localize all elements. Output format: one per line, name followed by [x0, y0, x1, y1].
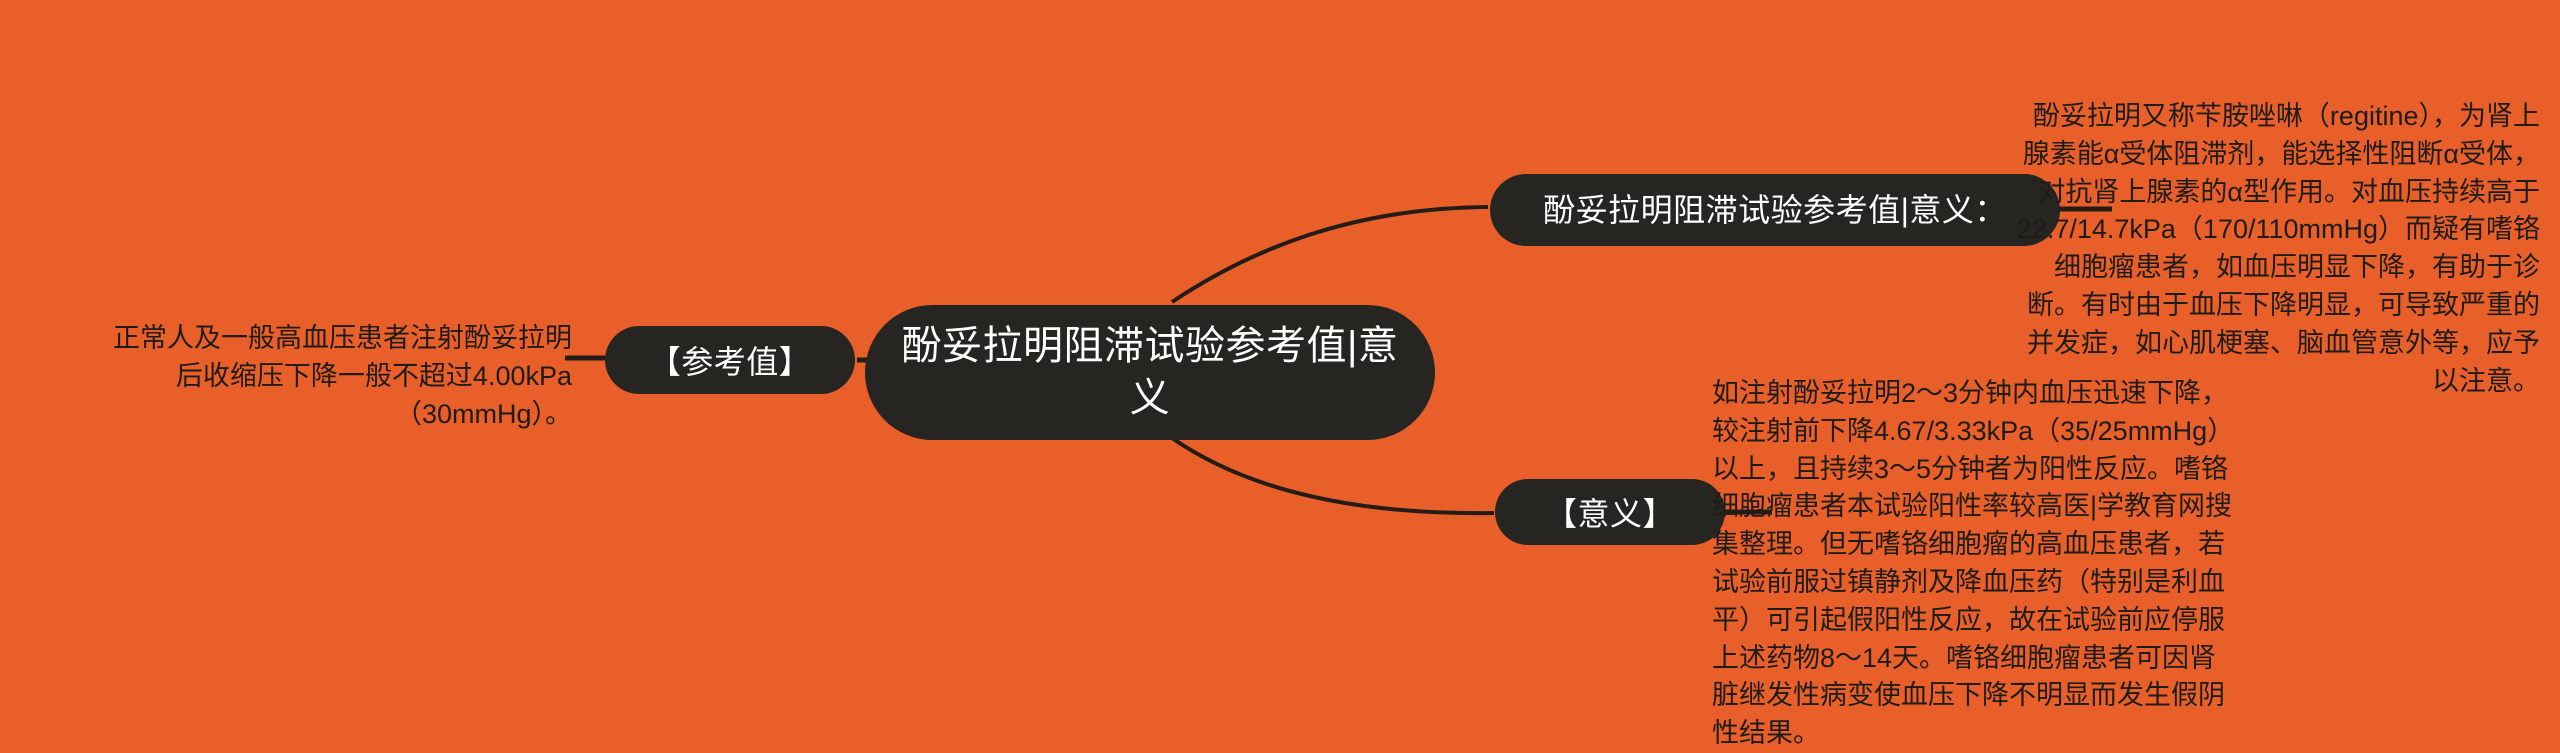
mindmap-branch-label-1: 酚妥拉明阻滞试验参考值|意义：: [1516, 191, 2034, 229]
connector-root-to-branch-1: [1172, 207, 1488, 302]
mindmap-leaf-text-significance: 如注射酚妥拉明2～3分钟内血压迅速下降，较注射前下降4.67/3.33kPa（3…: [1712, 375, 2242, 753]
mindmap-leaf-text-reference-value: 正常人及一般高血压患者注射酚妥拉明后收缩压下降一般不超过4.00kPa（30mm…: [92, 320, 572, 433]
mindmap-branch-label-3: 【意义】: [1515, 489, 1705, 535]
mindmap-root-node[interactable]: 酚妥拉明阻滞试验参考值|意义: [865, 305, 1435, 440]
mindmap-branch-node-2[interactable]: 【参考值】: [605, 326, 855, 394]
mindmap-leaf-text-overview: 酚妥拉明又称苄胺唑啉（regitine），为肾上腺素能α受体阻滞剂，能选择性阻断…: [2015, 98, 2540, 400]
mindmap-branch-node-1[interactable]: 酚妥拉明阻滞试验参考值|意义：: [1490, 174, 2060, 246]
connector-root-to-branch-3: [1172, 438, 1494, 513]
mindmap-root-label: 酚妥拉明阻滞试验参考值|意义: [899, 321, 1401, 423]
mindmap-canvas: 酚妥拉明阻滞试验参考值|意义 酚妥拉明阻滞试验参考值|意义： 【参考值】 【意义…: [0, 0, 2560, 741]
mindmap-branch-label-2: 【参考值】: [625, 337, 835, 383]
mindmap-branch-node-3[interactable]: 【意义】: [1495, 479, 1725, 545]
